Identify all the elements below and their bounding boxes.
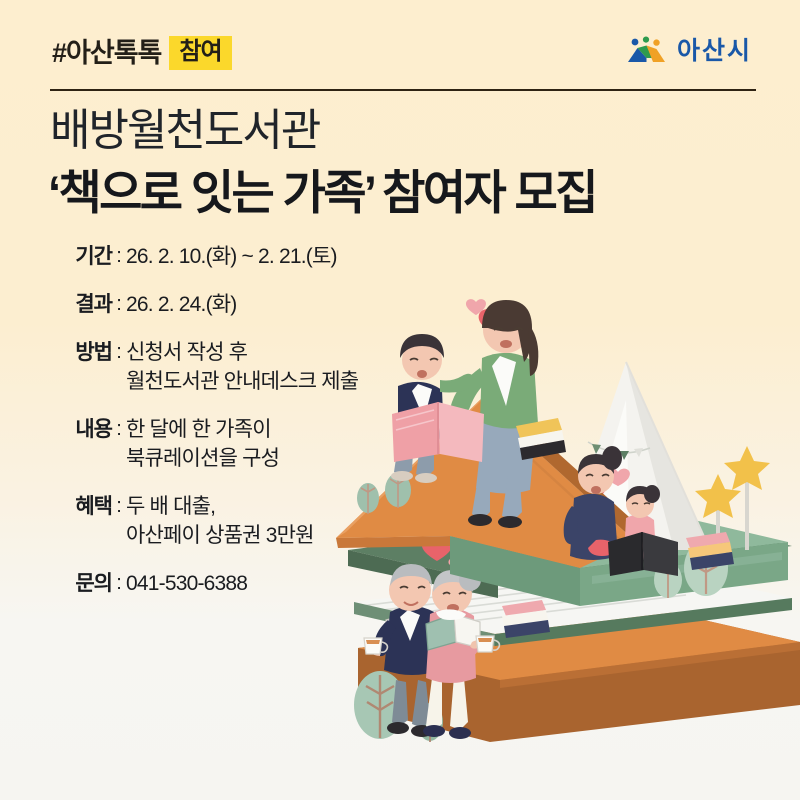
asan-city-logo: 아산시 xyxy=(626,36,752,66)
info-label: 방법 xyxy=(0,339,112,397)
info-value: 26. 2. 10.(화) ~ 2. 21.(토) xyxy=(126,243,337,272)
info-label: 기간 xyxy=(0,243,112,272)
poster-canvas: #아산톡톡 참여 아산시 배방월천도서관 ‘책으로 잇는 가족’ 참여자 모집 … xyxy=(0,0,800,800)
header-divider xyxy=(50,89,756,91)
info-label: 내용 xyxy=(0,416,112,474)
family-reading-illustration xyxy=(330,250,800,800)
participation-badge: 참여 xyxy=(169,36,231,70)
info-colon: : xyxy=(112,291,126,320)
hashtag-label: #아산톡톡 xyxy=(52,40,161,67)
book-stack-small xyxy=(502,600,550,638)
info-colon: : xyxy=(112,416,126,474)
open-book-pink xyxy=(392,402,484,462)
info-value: 26. 2. 24.(화) xyxy=(126,291,236,320)
asan-city-logo-text: 아산시 xyxy=(677,39,752,64)
program-title: ‘책으로 잇는 가족’ 참여자 모집 xyxy=(48,168,596,217)
asan-city-logo-people-mark xyxy=(626,36,668,66)
info-value: 한 달에 한 가족이 북큐레이션을 구성 xyxy=(126,416,279,474)
info-colon: : xyxy=(112,339,126,397)
poster-header: #아산톡톡 참여 아산시 xyxy=(0,0,800,92)
info-value: 신청서 작성 후 월천도서관 안내데스크 제출 xyxy=(126,339,358,397)
info-label: 결과 xyxy=(0,291,112,320)
info-colon: : xyxy=(112,493,126,551)
hashtag-group: #아산톡톡 참여 xyxy=(52,36,232,70)
library-name: 배방월천도서관 xyxy=(50,108,319,154)
illustration xyxy=(330,250,800,800)
info-colon: : xyxy=(112,570,126,599)
book-stack-tent xyxy=(686,532,734,570)
info-colon: : xyxy=(112,243,126,272)
info-value: 041-530-6388 xyxy=(126,570,247,599)
info-label: 문의 xyxy=(0,570,112,599)
info-value: 두 배 대출, 아산페이 상품권 3만원 xyxy=(126,493,314,551)
info-label: 혜택 xyxy=(0,493,112,551)
